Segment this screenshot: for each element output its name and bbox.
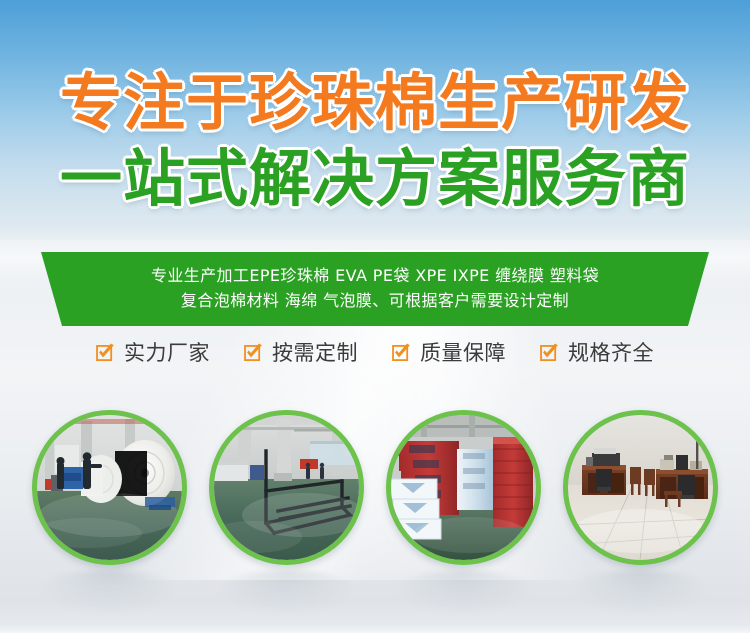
band-line-products: 专业生产加工EPE珍珠棉 EVA PE袋 XPE IXPE 缠绕膜 塑料袋 bbox=[151, 264, 599, 289]
photo-slot-2 bbox=[209, 410, 364, 565]
feature-badge-quality: 质量保障 bbox=[392, 337, 506, 367]
headline-primary: 专注于珍珠棉生产研发 bbox=[0, 72, 750, 134]
headline-block: 专注于珍珠棉生产研发 一站式解决方案服务商 bbox=[0, 72, 750, 210]
checkbox-checked-icon bbox=[392, 343, 411, 362]
feature-badge-label: 实力厂家 bbox=[124, 337, 210, 367]
checkbox-checked-icon bbox=[244, 343, 263, 362]
feature-badge-label: 按需定制 bbox=[272, 337, 358, 367]
photo-circle-workshop-interior bbox=[209, 410, 364, 565]
photo-slot-3 bbox=[386, 410, 541, 565]
promo-banner: 专注于珍珠棉生产研发 一站式解决方案服务商 专业生产加工EPE珍珠棉 EVA P… bbox=[0, 0, 750, 633]
photo-slot-1 bbox=[32, 410, 187, 565]
bottom-edge bbox=[0, 623, 750, 633]
feature-badge-row: 实力厂家 按需定制 质量保障 bbox=[0, 337, 750, 367]
photo-image-workshop-interior bbox=[214, 415, 359, 560]
feature-badge-label: 规格齐全 bbox=[568, 337, 654, 367]
feature-badge-specs: 规格齐全 bbox=[540, 337, 654, 367]
band-line-materials: 复合泡棉材料 海绵 气泡膜、可根据客户需要设计定制 bbox=[181, 289, 569, 314]
photo-circle-office-room bbox=[563, 410, 718, 565]
checkbox-checked-icon bbox=[96, 343, 115, 362]
product-info-band: 专业生产加工EPE珍珠棉 EVA PE袋 XPE IXPE 缠绕膜 塑料袋 复合… bbox=[0, 252, 750, 326]
photo-image-finished-goods-warehouse bbox=[391, 415, 536, 560]
photo-circle-row bbox=[0, 410, 750, 565]
feature-badge-strength: 实力厂家 bbox=[96, 337, 210, 367]
checkbox-checked-icon bbox=[540, 343, 559, 362]
feature-badge-label: 质量保障 bbox=[420, 337, 506, 367]
photo-circle-finished-goods-warehouse bbox=[386, 410, 541, 565]
photo-circle-foam-roll-production-line bbox=[32, 410, 187, 565]
photo-slot-4 bbox=[563, 410, 718, 565]
feature-badge-custom: 按需定制 bbox=[244, 337, 358, 367]
photo-image-office-room bbox=[568, 415, 713, 560]
photo-image-foam-roll-production-line bbox=[37, 415, 182, 560]
headline-secondary: 一站式解决方案服务商 bbox=[0, 148, 750, 210]
